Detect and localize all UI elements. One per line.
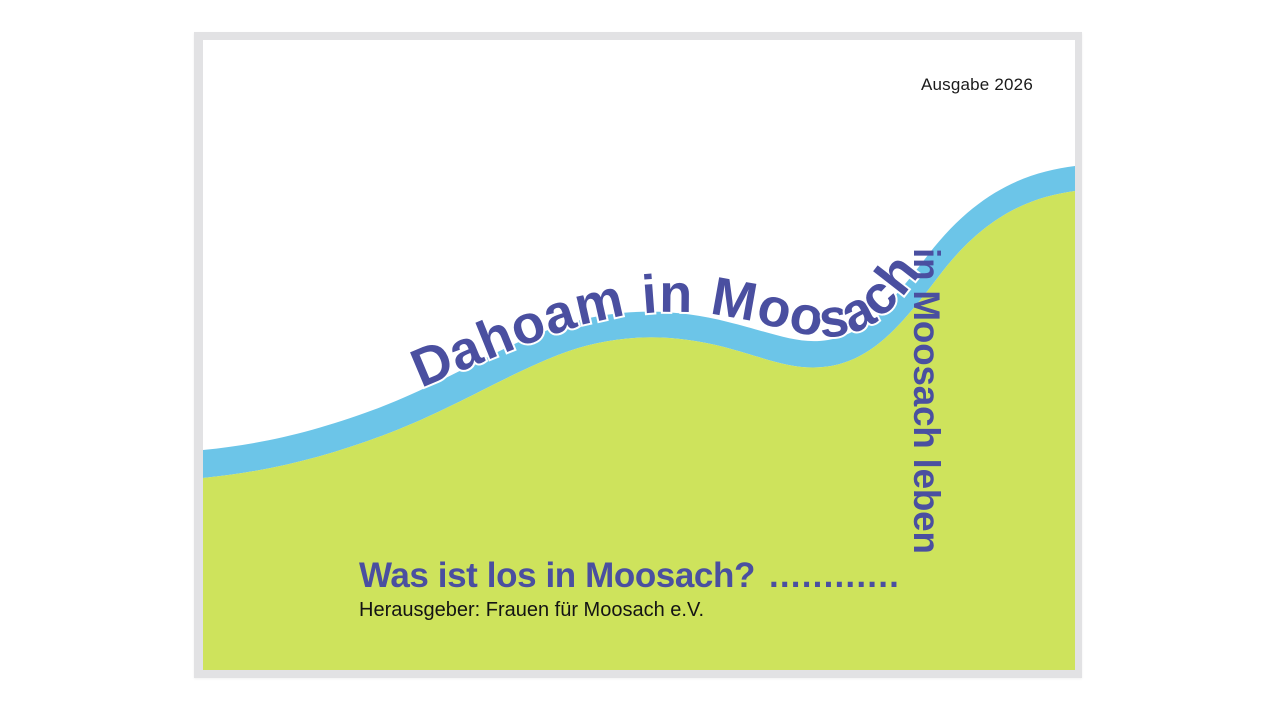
magazine-page-sheet: Dahoam in Moosach Ausgabe 2026 in Moosac… — [203, 40, 1075, 670]
cover-tagline: Was ist los in Moosach? — [359, 556, 755, 596]
publisher-line: Herausgeber: Frauen für Moosach e.V. — [359, 599, 999, 622]
magazine-page-frame: Dahoam in Moosach Ausgabe 2026 in Moosac… — [194, 32, 1082, 678]
tagline-dot-leader: ............ — [769, 556, 900, 596]
tagline-row: Was ist los in Moosach? ............ — [359, 556, 999, 596]
vertical-slogan: in Moosach leben — [905, 248, 947, 554]
cover-bottom-block: Was ist los in Moosach? ............ Her… — [359, 556, 999, 622]
issue-label: Ausgabe 2026 — [921, 75, 1033, 95]
screenshot-canvas: Dahoam in Moosach Ausgabe 2026 in Moosac… — [0, 0, 1280, 720]
